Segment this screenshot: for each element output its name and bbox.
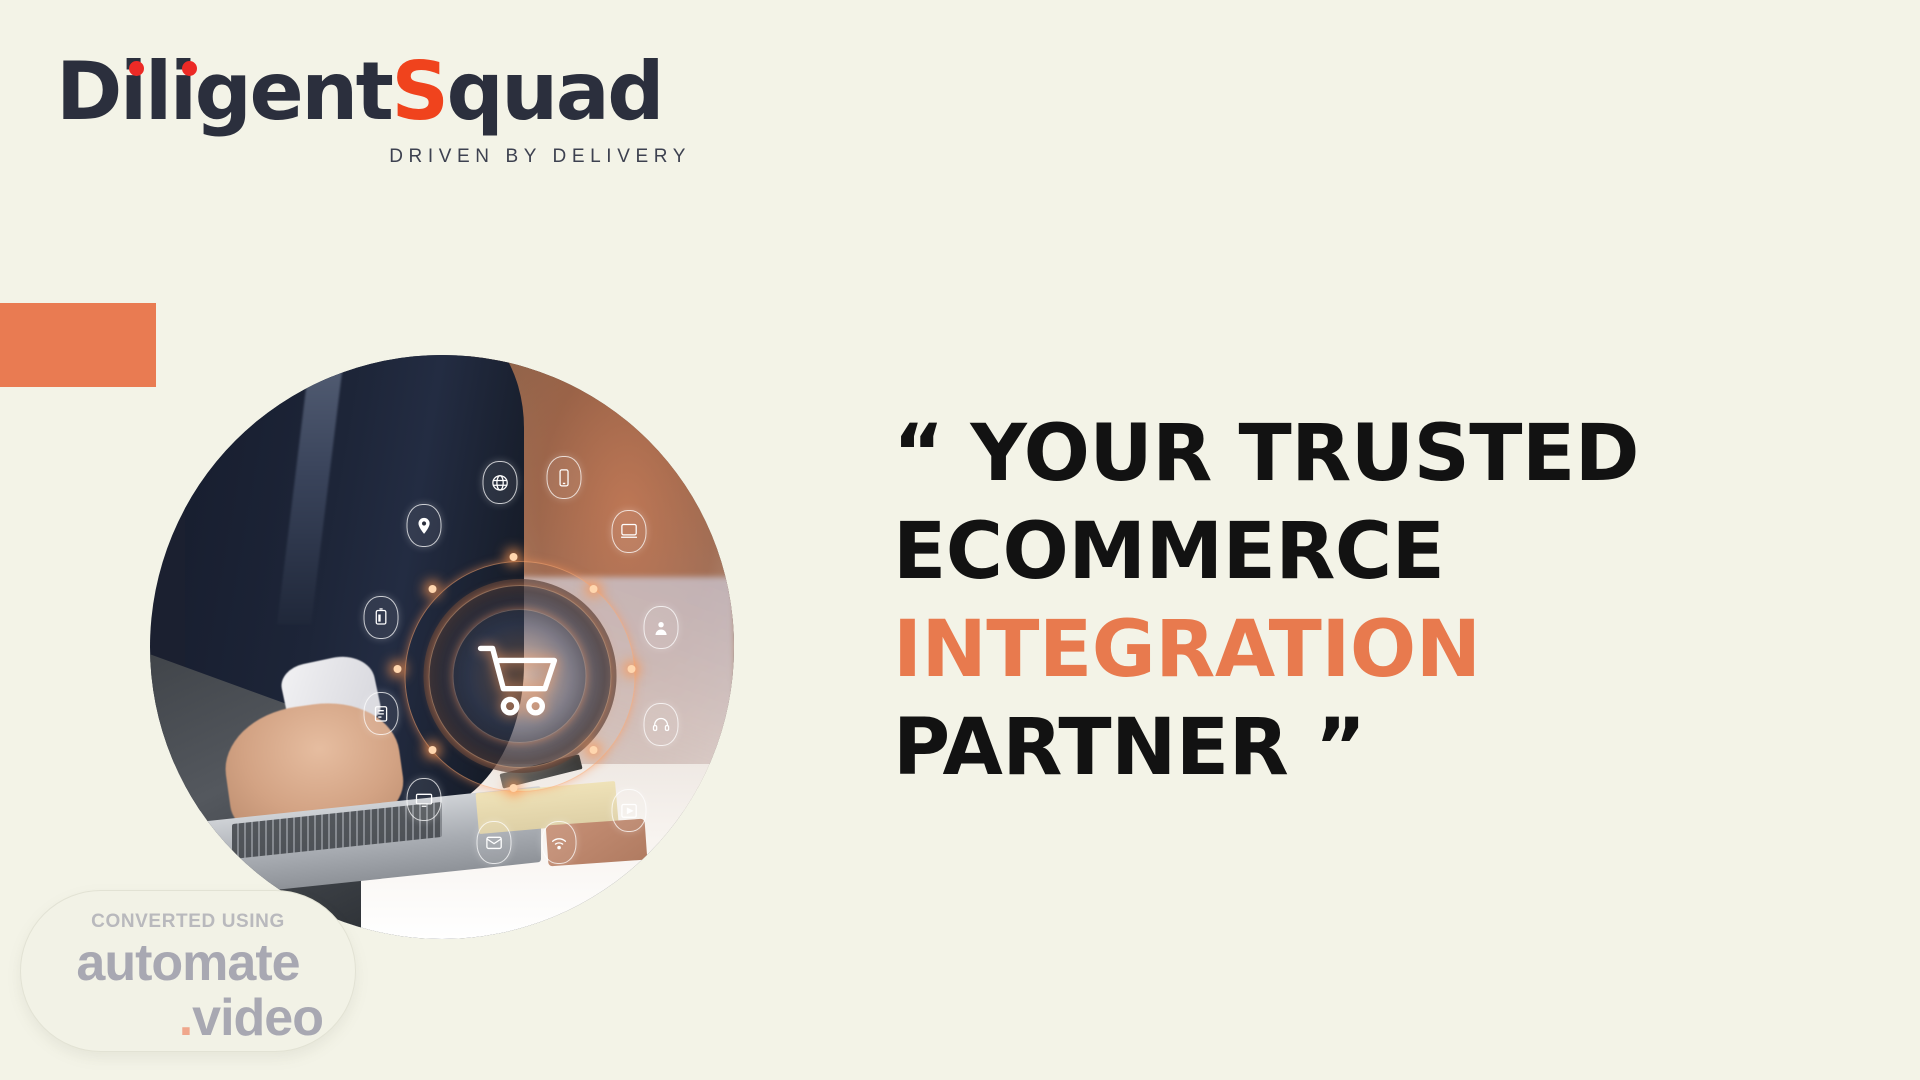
headline-line-4: PARTNER ” xyxy=(893,699,1813,797)
headline-line-1: “ YOUR TRUSTED xyxy=(893,405,1813,503)
hero-circle-image xyxy=(150,355,734,939)
logo-dot-icon-first xyxy=(129,61,144,76)
logo-text-diligent: Diligent xyxy=(56,45,391,138)
hud-spark xyxy=(428,585,436,593)
envelope-mail-icon xyxy=(477,821,512,864)
orange-accent-bar xyxy=(0,303,156,387)
hero-photo xyxy=(150,355,734,939)
headline-line-3-accent: INTEGRATION xyxy=(893,601,1813,699)
mobile-phone-icon xyxy=(547,456,582,499)
headline-line-2: ECOMMERCE xyxy=(893,503,1813,601)
hud-spark xyxy=(627,665,635,673)
logo-text-s-accent: S xyxy=(391,45,446,138)
watermark-badge: CONVERTED USING automate .video xyxy=(20,890,356,1052)
logo-wordmark: DiligentSquad xyxy=(56,52,696,132)
watermark-dot: . xyxy=(179,989,192,1047)
hud-spark xyxy=(509,784,517,792)
video-play-icon xyxy=(611,789,646,832)
logo-tagline: DRIVEN BY DELIVERY xyxy=(56,146,696,168)
hud-spark xyxy=(394,665,402,673)
watermark-brand-video: .video xyxy=(47,991,329,1045)
presentation-slide: DiligentSquad DRIVEN BY DELIVERY xyxy=(0,0,1920,1080)
document-icon xyxy=(364,692,399,735)
tablet-icon xyxy=(611,510,646,553)
logo-text-quad: quad xyxy=(447,45,662,138)
hud-spark xyxy=(509,553,517,561)
globe-icon xyxy=(482,461,517,504)
logo-dot-icon-second xyxy=(182,61,197,76)
watermark-brand-automate: automate xyxy=(47,935,329,991)
user-profile-icon xyxy=(643,606,678,649)
location-pin-icon xyxy=(407,504,442,547)
monitor-icon xyxy=(407,778,442,821)
headline-quote: “ YOUR TRUSTED ECOMMERCE INTEGRATION PAR… xyxy=(893,405,1813,797)
wifi-icon xyxy=(541,821,576,864)
ecommerce-hud-overlay xyxy=(385,542,654,811)
shopping-cart-icon xyxy=(477,639,563,720)
watermark-video-text: video xyxy=(192,989,323,1047)
photo-suit-lapel xyxy=(277,355,351,624)
brand-logo: DiligentSquad DRIVEN BY DELIVERY xyxy=(56,52,696,168)
battery-icon xyxy=(364,596,399,639)
headset-support-icon xyxy=(643,703,678,746)
watermark-top-label: CONVERTED USING xyxy=(47,911,329,933)
